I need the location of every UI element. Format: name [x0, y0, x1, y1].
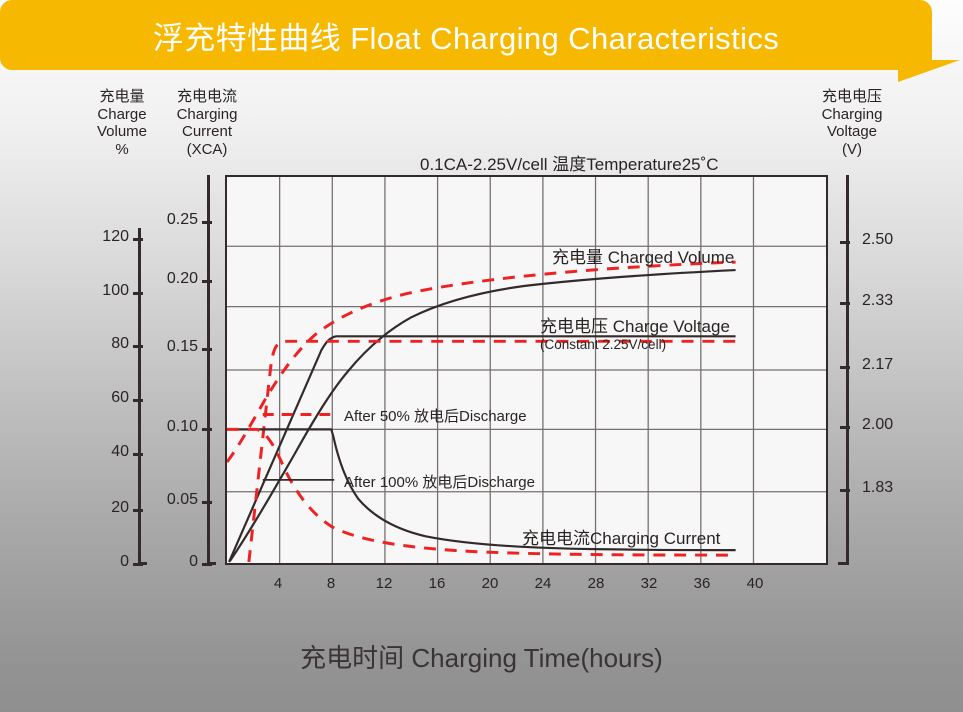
tick-charging-current — [202, 348, 212, 351]
tick-charging-current — [202, 221, 212, 224]
tick-charging-current — [202, 428, 212, 431]
xticklabel: 28 — [579, 575, 613, 592]
caption-line: 充电量 — [78, 88, 166, 106]
xticklabel: 32 — [632, 575, 666, 592]
xticklabel: 8 — [314, 575, 348, 592]
legend-label-50: After 50% 放电后Discharge — [344, 408, 527, 425]
xticklabel: 40 — [738, 575, 772, 592]
caption-line: Charging — [162, 106, 252, 124]
ticklabel-charging-current: 0.10 — [143, 418, 198, 436]
tick-charge-volume — [133, 453, 143, 456]
tick-charging-current — [202, 280, 212, 283]
ticklabel-charge-volume: 20 — [73, 499, 129, 517]
ticklabel-charge-volume: 0 — [73, 553, 129, 571]
axis-rail-charging-current — [207, 175, 210, 565]
ticklabel-charge-volume: 120 — [73, 228, 129, 246]
xticklabel: 24 — [526, 575, 560, 592]
annotation-charge-voltage-text: 充电电压 Charge Voltage — [540, 317, 730, 336]
ticklabel-charging-current: 0 — [143, 553, 198, 571]
ticklabel-charging-voltage: 2.50 — [862, 231, 918, 249]
page-title: 浮充特性曲线 Float Charging Characteristics — [0, 0, 932, 70]
ticklabel-charging-voltage: 2.00 — [862, 416, 918, 434]
caption-line: 充电电压 — [806, 88, 898, 106]
left-axis-caption-charge-volume: 充电量 Charge Volume % — [78, 88, 166, 158]
tick-charging-voltage — [840, 366, 850, 369]
legend-label-100-text: After 100% 放电后Discharge — [344, 474, 535, 491]
caption-line: Voltage — [806, 123, 898, 141]
ticklabel-charging-current: 0.25 — [143, 211, 198, 229]
tick-charge-volume — [133, 509, 143, 512]
annotation-charge-voltage-sub: (Constant 2.25V/cell) — [540, 336, 730, 353]
tick-charging-voltage — [840, 241, 850, 244]
annotation-charged-volume-text: 充电量 Charged Volume — [552, 248, 734, 267]
annotation-charging-current: 充电电流Charging Current — [522, 530, 720, 548]
xticklabel: 12 — [367, 575, 401, 592]
tick-charging-current — [202, 501, 212, 504]
legend-label-100: After 100% 放电后Discharge — [344, 474, 535, 491]
legend-label-50-text: After 50% 放电后Discharge — [344, 408, 527, 425]
ticklabel-charging-current: 0.15 — [143, 338, 198, 356]
caption-line: % — [78, 141, 166, 159]
left-axis-caption-charging-current: 充电电流 Charging Current (XCA) — [162, 88, 252, 158]
axis-rail-charging-voltage — [846, 175, 849, 565]
ticklabel-charge-volume: 80 — [73, 335, 129, 353]
caption-line: (V) — [806, 141, 898, 159]
tick-charging-current — [202, 563, 212, 566]
x-axis-title: 充电时间 Charging Time(hours) — [0, 638, 963, 675]
chart-plot-area: 充电量 Charged Volume 充电电压 Charge Voltage (… — [225, 175, 828, 565]
caption-line: (XCA) — [162, 141, 252, 159]
ticklabel-charging-voltage: 2.17 — [862, 356, 918, 374]
horizontal-gridlines — [227, 246, 826, 491]
annotation-charged-volume: 充电量 Charged Volume — [552, 249, 734, 267]
tick-charge-volume — [133, 563, 143, 566]
ticklabel-charge-volume: 100 — [73, 282, 129, 300]
chart-conditions: 0.1CA-2.25V/cell 温度Temperature25˚C — [420, 150, 719, 175]
axis-rail-cap — [838, 562, 847, 565]
tick-charging-voltage — [840, 302, 850, 305]
xticklabel: 20 — [473, 575, 507, 592]
tick-charge-volume — [133, 292, 143, 295]
caption-line: Charge — [78, 106, 166, 124]
plot-grid-and-curves — [227, 177, 826, 563]
tick-charging-voltage — [840, 426, 850, 429]
tick-charge-volume — [133, 238, 143, 241]
caption-line: Volume — [78, 123, 166, 141]
curve-charged-volume-50 — [227, 262, 736, 462]
ticklabel-charging-current: 0.20 — [143, 270, 198, 288]
ticklabel-charge-volume: 60 — [73, 389, 129, 407]
ticklabel-charging-voltage: 1.83 — [862, 479, 918, 497]
right-axis-caption-charging-voltage: 充电电压 Charging Voltage (V) — [806, 88, 898, 158]
xticklabel: 16 — [420, 575, 454, 592]
caption-line: 充电电流 — [162, 88, 252, 106]
tick-charge-volume — [133, 399, 143, 402]
tick-charging-voltage — [840, 489, 850, 492]
xticklabel: 4 — [261, 575, 295, 592]
xticklabel: 36 — [685, 575, 719, 592]
ticklabel-charging-voltage: 2.33 — [862, 292, 918, 310]
ticklabel-charging-current: 0.05 — [143, 491, 198, 509]
caption-line: Charging — [806, 106, 898, 124]
annotation-charge-voltage: 充电电压 Charge Voltage (Constant 2.25V/cell… — [540, 318, 730, 353]
annotation-charging-current-text: 充电电流Charging Current — [522, 529, 720, 548]
axis-rail-charge-volume — [138, 228, 141, 565]
tick-charge-volume — [133, 345, 143, 348]
caption-line: Current — [162, 123, 252, 141]
ticklabel-charge-volume: 40 — [73, 443, 129, 461]
